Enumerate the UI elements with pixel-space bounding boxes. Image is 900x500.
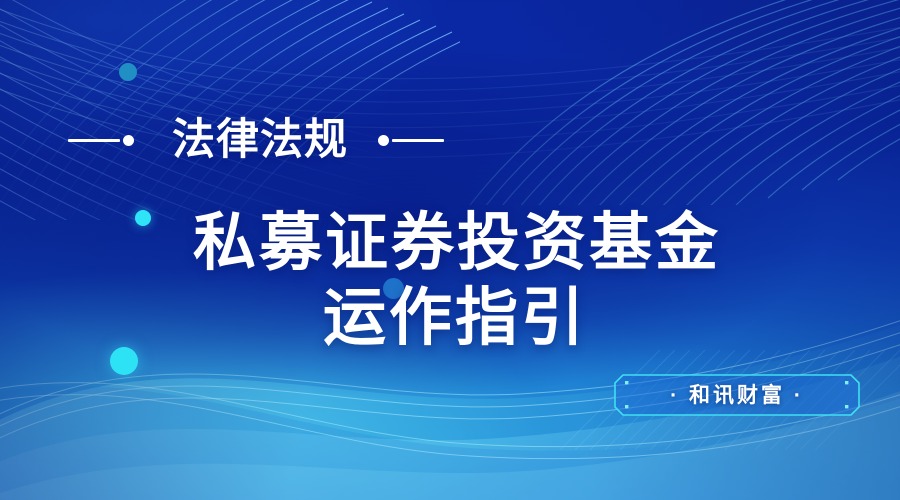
rule-knob: [378, 135, 389, 146]
title-line-2: 运作指引: [0, 281, 900, 356]
brand-badge-label: · 和讯财富 ·: [670, 385, 804, 406]
promo-banner: 法律法规 私募证券投资基金 运作指引 · 和讯财富 ·: [0, 0, 900, 500]
eyebrow-label: 法律法规: [172, 119, 348, 162]
rule-bar: [392, 139, 444, 142]
line-dot-rule-icon: [68, 135, 134, 146]
dot-line-rule-icon: [378, 135, 444, 146]
title-line-1: 私募证券投资基金: [0, 206, 900, 281]
brand-badge: · 和讯财富 ·: [614, 374, 860, 416]
eyebrow-row: 法律法规: [0, 112, 540, 168]
page-title: 私募证券投资基金 运作指引: [0, 206, 900, 356]
rule-bar: [68, 139, 120, 142]
rule-knob: [123, 135, 134, 146]
decorative-dot-icon: [119, 63, 137, 81]
